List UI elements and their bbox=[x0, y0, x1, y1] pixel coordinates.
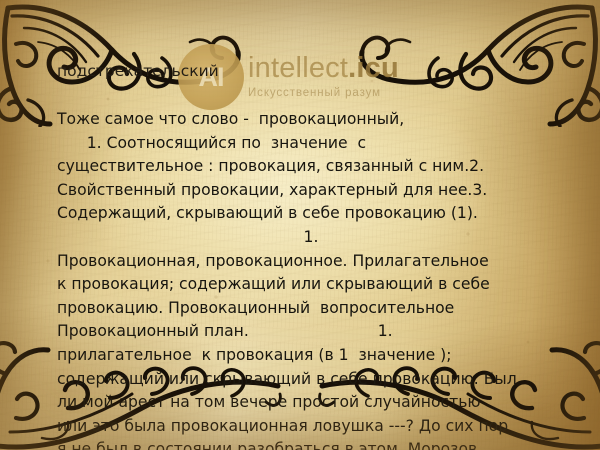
definition-line: содержащий или скрывающий в себе провока… bbox=[57, 368, 565, 392]
definition-line: провокацию. Провокационный вопросительно… bbox=[57, 297, 565, 321]
definition-line: Содержащий, скрывающий в себе провокацию… bbox=[57, 202, 565, 226]
definition-line: 1. Соотносящийся по значение с bbox=[57, 132, 565, 156]
article-content: подстрекательский Тоже самое что слово -… bbox=[0, 0, 600, 450]
definition-line: или это была провокационная ловушка ---?… bbox=[57, 415, 565, 439]
definition-line: 1. bbox=[57, 226, 565, 250]
parchment-page: AI intellect.icu Искусственный разум под… bbox=[0, 0, 600, 450]
definition-line: Свойственный провокации, характерный для… bbox=[57, 179, 565, 203]
definition-line: я не был в состоянии разобраться в этом.… bbox=[57, 438, 565, 450]
definition-body: Тоже самое что слово - провокационный, 1… bbox=[57, 108, 565, 450]
definition-line: Провокационная, провокационное. Прилагат… bbox=[57, 250, 565, 274]
definition-line: Тоже самое что слово - провокационный, bbox=[57, 108, 565, 132]
definition-line: Провокационный план. 1. bbox=[57, 320, 565, 344]
definition-line: ли мой арест на том вечере простой случа… bbox=[57, 391, 565, 415]
page-title: подстрекательский bbox=[57, 62, 219, 80]
definition-line: существительное : провокация, связанный … bbox=[57, 155, 565, 179]
definition-line: к провокация; содержащий или скрывающий … bbox=[57, 273, 565, 297]
definition-line: прилагательное к провокация (в 1 значени… bbox=[57, 344, 565, 368]
